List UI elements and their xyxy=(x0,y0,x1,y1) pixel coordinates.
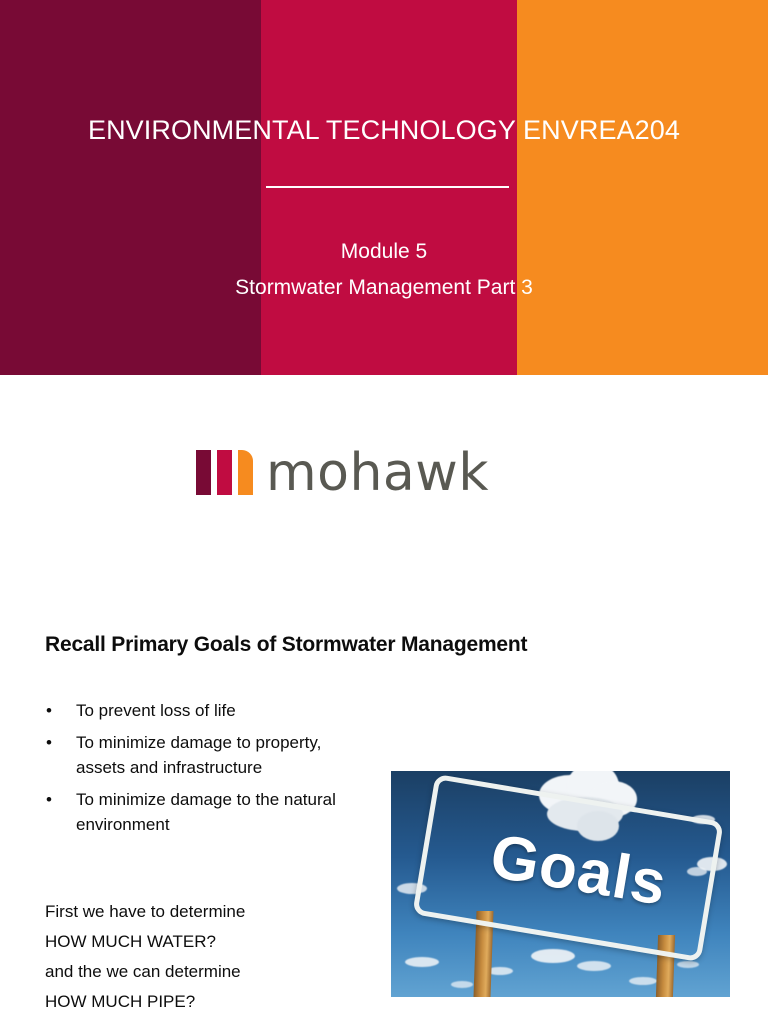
list-item-label: To prevent loss of life xyxy=(76,701,236,720)
note-line: HOW MUCH WATER? xyxy=(45,927,375,957)
logo-bar-orange xyxy=(238,450,253,495)
bullet-dot-icon: • xyxy=(46,730,52,756)
list-item-label: To minimize damage to the natural enviro… xyxy=(76,790,336,835)
bullet-dot-icon: • xyxy=(46,698,52,724)
cloud-shape xyxy=(629,977,657,985)
cloud-shape xyxy=(451,981,473,988)
list-item-label: To minimize damage to property, assets a… xyxy=(76,733,321,778)
logo-bars-icon xyxy=(196,450,258,495)
module-subtitle: Stormwater Management Part 3 xyxy=(64,276,704,300)
list-item: • To prevent loss of life xyxy=(45,698,365,724)
logo-bar-crimson xyxy=(217,450,232,495)
note-line: and the we can determine xyxy=(45,957,375,987)
bullet-dot-icon: • xyxy=(46,787,52,813)
goals-bullet-list: • To prevent loss of life • To minimize … xyxy=(45,698,365,844)
title-underline-rule xyxy=(266,186,509,188)
page-title: Recall Primary Goals of Stormwater Manag… xyxy=(45,633,725,657)
cloud-shape xyxy=(531,949,575,963)
module-label: Module 5 xyxy=(64,240,704,264)
course-title: ENVIRONMENTAL TECHNOLOGY ENVREA204 xyxy=(64,112,704,149)
cloud-shape xyxy=(577,961,611,971)
logo-bar-maroon xyxy=(196,450,211,495)
list-item: • To minimize damage to the natural envi… xyxy=(45,787,365,838)
mohawk-logo: mohawk xyxy=(196,448,564,498)
cloud-shape xyxy=(405,957,439,967)
banner-text-block: ENVIRONMENTAL TECHNOLOGY ENVREA204 Modul… xyxy=(0,0,768,375)
list-item: • To minimize damage to property, assets… xyxy=(45,730,365,781)
goals-sign-image: Goals xyxy=(391,771,730,997)
logo-wordmark: mohawk xyxy=(266,444,489,502)
note-line: HOW MUCH PIPE? xyxy=(45,987,375,1017)
determination-note: First we have to determine HOW MUCH WATE… xyxy=(45,897,375,1017)
title-banner: ENVIRONMENTAL TECHNOLOGY ENVREA204 Modul… xyxy=(0,0,768,375)
cloud-shape xyxy=(677,961,699,968)
note-line: First we have to determine xyxy=(45,897,375,927)
